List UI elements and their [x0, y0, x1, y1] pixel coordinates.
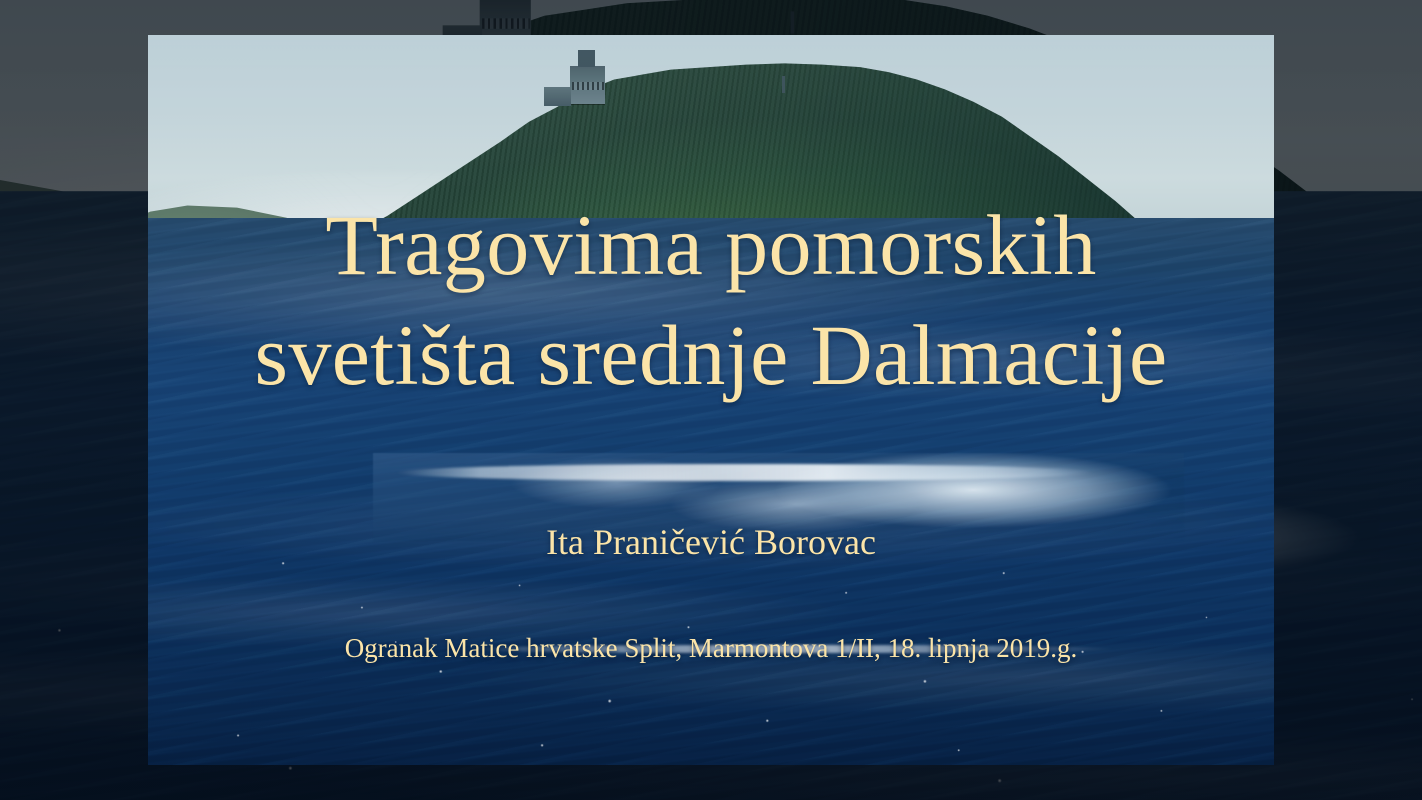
panel-sea [148, 218, 1274, 766]
slide-content-panel [148, 35, 1274, 765]
presentation-slide: Tragovima pomorskih svetišta srednje Dal… [0, 0, 1422, 800]
panel-hilltop-annex [544, 87, 571, 106]
panel-water-sparkles [148, 519, 1274, 765]
panel-hilltop-mast [782, 76, 785, 94]
panel-scene [148, 35, 1274, 765]
panel-hilltop-building [570, 66, 605, 104]
